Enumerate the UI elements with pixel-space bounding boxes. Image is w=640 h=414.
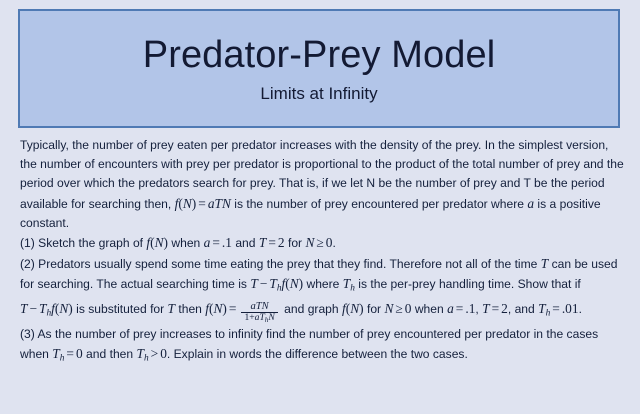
- item-3-marker: (3): [20, 327, 35, 341]
- item-2-math-fn4: f(N): [342, 302, 364, 316]
- item-2-text-3: where: [303, 277, 343, 291]
- fraction-denominator: 1+aThN: [241, 312, 277, 324]
- item-1-math-t: T=2: [259, 236, 285, 250]
- item-2-end: .: [579, 302, 582, 316]
- item-2-marker: (2): [20, 257, 35, 271]
- intro-paragraph: Typically, the number of prey eaten per …: [20, 136, 624, 233]
- title-box: Predator-Prey Model Limits at Infinity: [18, 9, 620, 128]
- item-2-math-aval: a=.1: [447, 302, 475, 316]
- item-1-end: .: [332, 236, 335, 250]
- intro-math-fn-eq-atn: f(N)=aTN: [175, 196, 231, 211]
- item-2-math-th-1: Th: [343, 277, 355, 291]
- item-1-and: and: [232, 236, 259, 250]
- item-2-text-7: and graph: [281, 302, 342, 316]
- item-2-math-tval: T=2: [482, 302, 508, 316]
- item-2-text-6: then: [175, 302, 205, 316]
- item-2-equals: =: [227, 301, 239, 316]
- intro-text-2: is the number of prey encountered per pr…: [231, 197, 527, 211]
- item-1-math-a: a=.1: [204, 236, 232, 250]
- item-2-text-4: is the per-prey handling time. Show that…: [355, 277, 581, 291]
- list-item: (2) Predators usually spend some time ea…: [20, 254, 624, 325]
- item-2-math-t3: T: [168, 301, 175, 316]
- item-2-text-8: for: [364, 302, 385, 316]
- item-1-for: for: [285, 236, 306, 250]
- item-1-when: when: [168, 236, 204, 250]
- item-2-math-fn3: f(N): [205, 302, 227, 316]
- slide-canvas: Predator-Prey Model Limits at Infinity T…: [0, 0, 640, 414]
- item-2-text-1: Predators usually spend some time eating…: [38, 257, 541, 271]
- item-1-math-fn: f(N): [146, 235, 168, 250]
- fraction-den-rest: aT: [255, 312, 265, 323]
- item-3-text-3: . Explain in words the difference betwee…: [167, 347, 468, 361]
- fraction-den-one: 1+: [244, 312, 254, 323]
- item-1-lead: Sketch the graph of: [38, 236, 146, 250]
- item-3-text-2: and then: [83, 347, 137, 361]
- item-2-comma-2: , and: [508, 302, 538, 316]
- item-1-math-n: N≥0: [305, 236, 332, 250]
- slide-body: Typically, the number of prey eaten per …: [20, 136, 624, 369]
- item-2-fraction: aTN1+aThN: [241, 301, 277, 324]
- item-2-text-9: when: [411, 302, 447, 316]
- item-2-math-thval: Th=.01: [538, 302, 578, 316]
- item-3-math-th-gt-0: Th>0: [136, 347, 166, 361]
- item-2-math-subst: T−Thf(N): [20, 302, 73, 316]
- page-subtitle: Limits at Infinity: [260, 83, 377, 105]
- item-1-marker: (1): [20, 236, 35, 250]
- item-2-text-5: is substituted for: [73, 302, 168, 316]
- item-3-sub-h-b: h: [144, 354, 149, 364]
- item-3-math-th-eq-0: Th=0: [52, 347, 82, 361]
- fraction-numerator: aTN: [241, 301, 277, 312]
- item-2-math-search-time: T−Thf(N): [250, 277, 303, 291]
- list-item: (1) Sketch the graph of f(N) when a=.1 a…: [20, 233, 624, 254]
- list-item: (3) As the number of prey increases to i…: [20, 325, 624, 370]
- fraction-den-tail: N: [268, 312, 274, 323]
- item-2-math-ncond: N≥0: [384, 302, 411, 316]
- page-title: Predator-Prey Model: [143, 32, 496, 78]
